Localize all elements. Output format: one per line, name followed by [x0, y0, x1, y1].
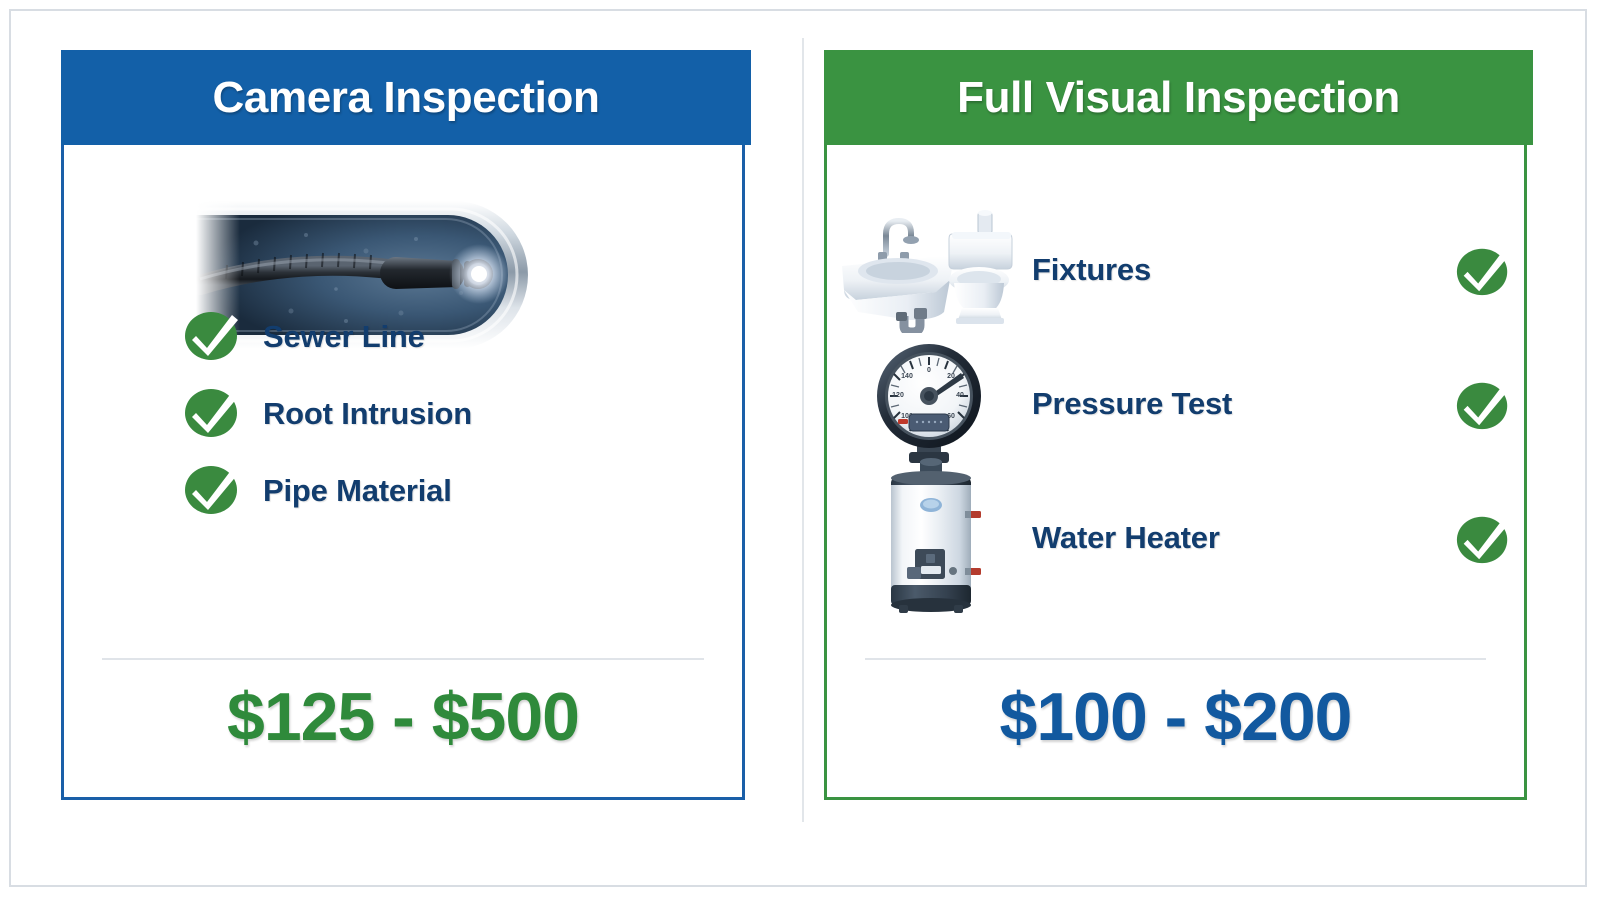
pressure-gauge-illustration: 0 20 40 60 140 120 100 80	[827, 340, 1032, 468]
feature-item[interactable]: Pipe Material	[182, 452, 702, 529]
svg-text:0: 0	[927, 367, 931, 374]
svg-text:120: 120	[892, 392, 904, 399]
check-circle-icon	[182, 457, 244, 524]
check-circle-icon	[1444, 240, 1524, 300]
check-circle-icon	[1444, 508, 1524, 568]
feature-label: Fixtures	[1032, 252, 1444, 288]
card-title-visual: Full Visual Inspection	[957, 73, 1400, 123]
price-divider	[865, 658, 1486, 660]
infographic-stage: Camera Inspection	[0, 0, 1600, 900]
check-circle-icon	[182, 303, 244, 370]
sink-and-toilet-illustration	[827, 208, 1032, 333]
feature-item[interactable]: Root Intrusion	[182, 375, 702, 452]
svg-text:140: 140	[901, 373, 913, 380]
feature-list-camera: Sewer Line Root Intrusion	[182, 298, 702, 529]
price-camera: $125 - $500	[64, 678, 742, 756]
feature-label: Water Heater	[1032, 520, 1444, 556]
water-heater-illustration	[827, 453, 1032, 623]
feature-item[interactable]: 0 20 40 60 140 120 100 80	[827, 337, 1524, 471]
feature-item[interactable]: Sewer Line	[182, 298, 702, 375]
check-circle-icon	[182, 380, 244, 447]
feature-label: Sewer Line	[263, 319, 425, 355]
price-divider	[102, 658, 704, 660]
price-visual: $100 - $200	[827, 678, 1524, 756]
feature-item[interactable]: Fixtures	[827, 203, 1524, 337]
card-camera-inspection[interactable]: Camera Inspection	[61, 50, 745, 800]
svg-text:40: 40	[956, 392, 964, 399]
card-full-visual-inspection[interactable]: Full Visual Inspection	[824, 50, 1527, 800]
feature-label: Pipe Material	[263, 473, 452, 509]
feature-label: Root Intrusion	[263, 396, 472, 432]
card-title-camera: Camera Inspection	[213, 73, 600, 123]
check-circle-icon	[1444, 374, 1524, 434]
card-header-visual: Full Visual Inspection	[824, 50, 1533, 145]
feature-list-visual: Fixtures	[827, 203, 1524, 605]
feature-label: Pressure Test	[1032, 386, 1444, 422]
card-header-camera: Camera Inspection	[61, 50, 751, 145]
feature-item[interactable]: Water Heater	[827, 471, 1524, 605]
center-divider	[802, 38, 804, 822]
